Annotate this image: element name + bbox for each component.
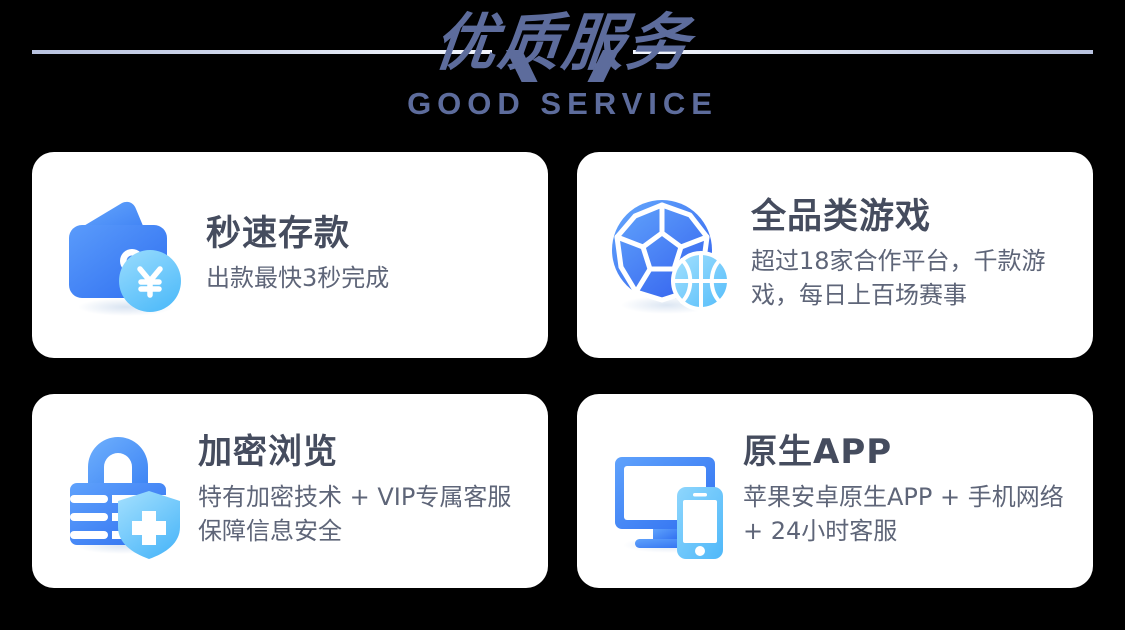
- card-title: 秒速存款: [206, 215, 530, 254]
- feature-card-native-app[interactable]: 原生APP 苹果安卓原生APP + 手机网络 + 24小时客服: [577, 394, 1093, 588]
- feature-card-encryption[interactable]: 加密浏览 特有加密技术 + VIP专属客服保障信息安全: [32, 394, 548, 588]
- card-title: 原生APP: [743, 434, 1075, 471]
- card-text-block: 原生APP 苹果安卓原生APP + 手机网络 + 24小时客服: [743, 434, 1075, 548]
- title-block: 优质服务 GOOD SERVICE: [0, 0, 1125, 119]
- card-description: 超过18家合作平台，千款游戏，每日上百场赛事: [751, 244, 1075, 312]
- card-text-block: 秒速存款 出款最快3秒完成: [206, 215, 530, 296]
- page-header: 优质服务 GOOD SERVICE: [0, 0, 1125, 145]
- card-description: 出款最快3秒完成: [206, 261, 530, 295]
- card-title: 全品类游戏: [751, 198, 1075, 237]
- card-description: 苹果安卓原生APP + 手机网络 + 24小时客服: [743, 480, 1075, 548]
- feature-card-games[interactable]: 全品类游戏 超过18家合作平台，千款游戏，每日上百场赛事: [577, 152, 1093, 358]
- monitor-phone-icon: [605, 429, 729, 553]
- lock-shield-icon: [60, 429, 184, 553]
- feature-card-deposit[interactable]: 秒速存款 出款最快3秒完成: [32, 152, 548, 358]
- wallet-coin-icon: [60, 189, 192, 321]
- card-text-block: 全品类游戏 超过18家合作平台，千款游戏，每日上百场赛事: [751, 198, 1075, 313]
- page-subtitle: GOOD SERVICE: [0, 88, 1125, 119]
- soccer-basketball-icon: [605, 189, 737, 321]
- page-title: 优质服务: [0, 12, 1125, 74]
- feature-card-grid: 秒速存款 出款最快3秒完成: [32, 152, 1093, 588]
- card-text-block: 加密浏览 特有加密技术 + VIP专属客服保障信息安全: [198, 434, 530, 548]
- card-title: 加密浏览: [198, 434, 530, 471]
- card-description: 特有加密技术 + VIP专属客服保障信息安全: [198, 480, 530, 548]
